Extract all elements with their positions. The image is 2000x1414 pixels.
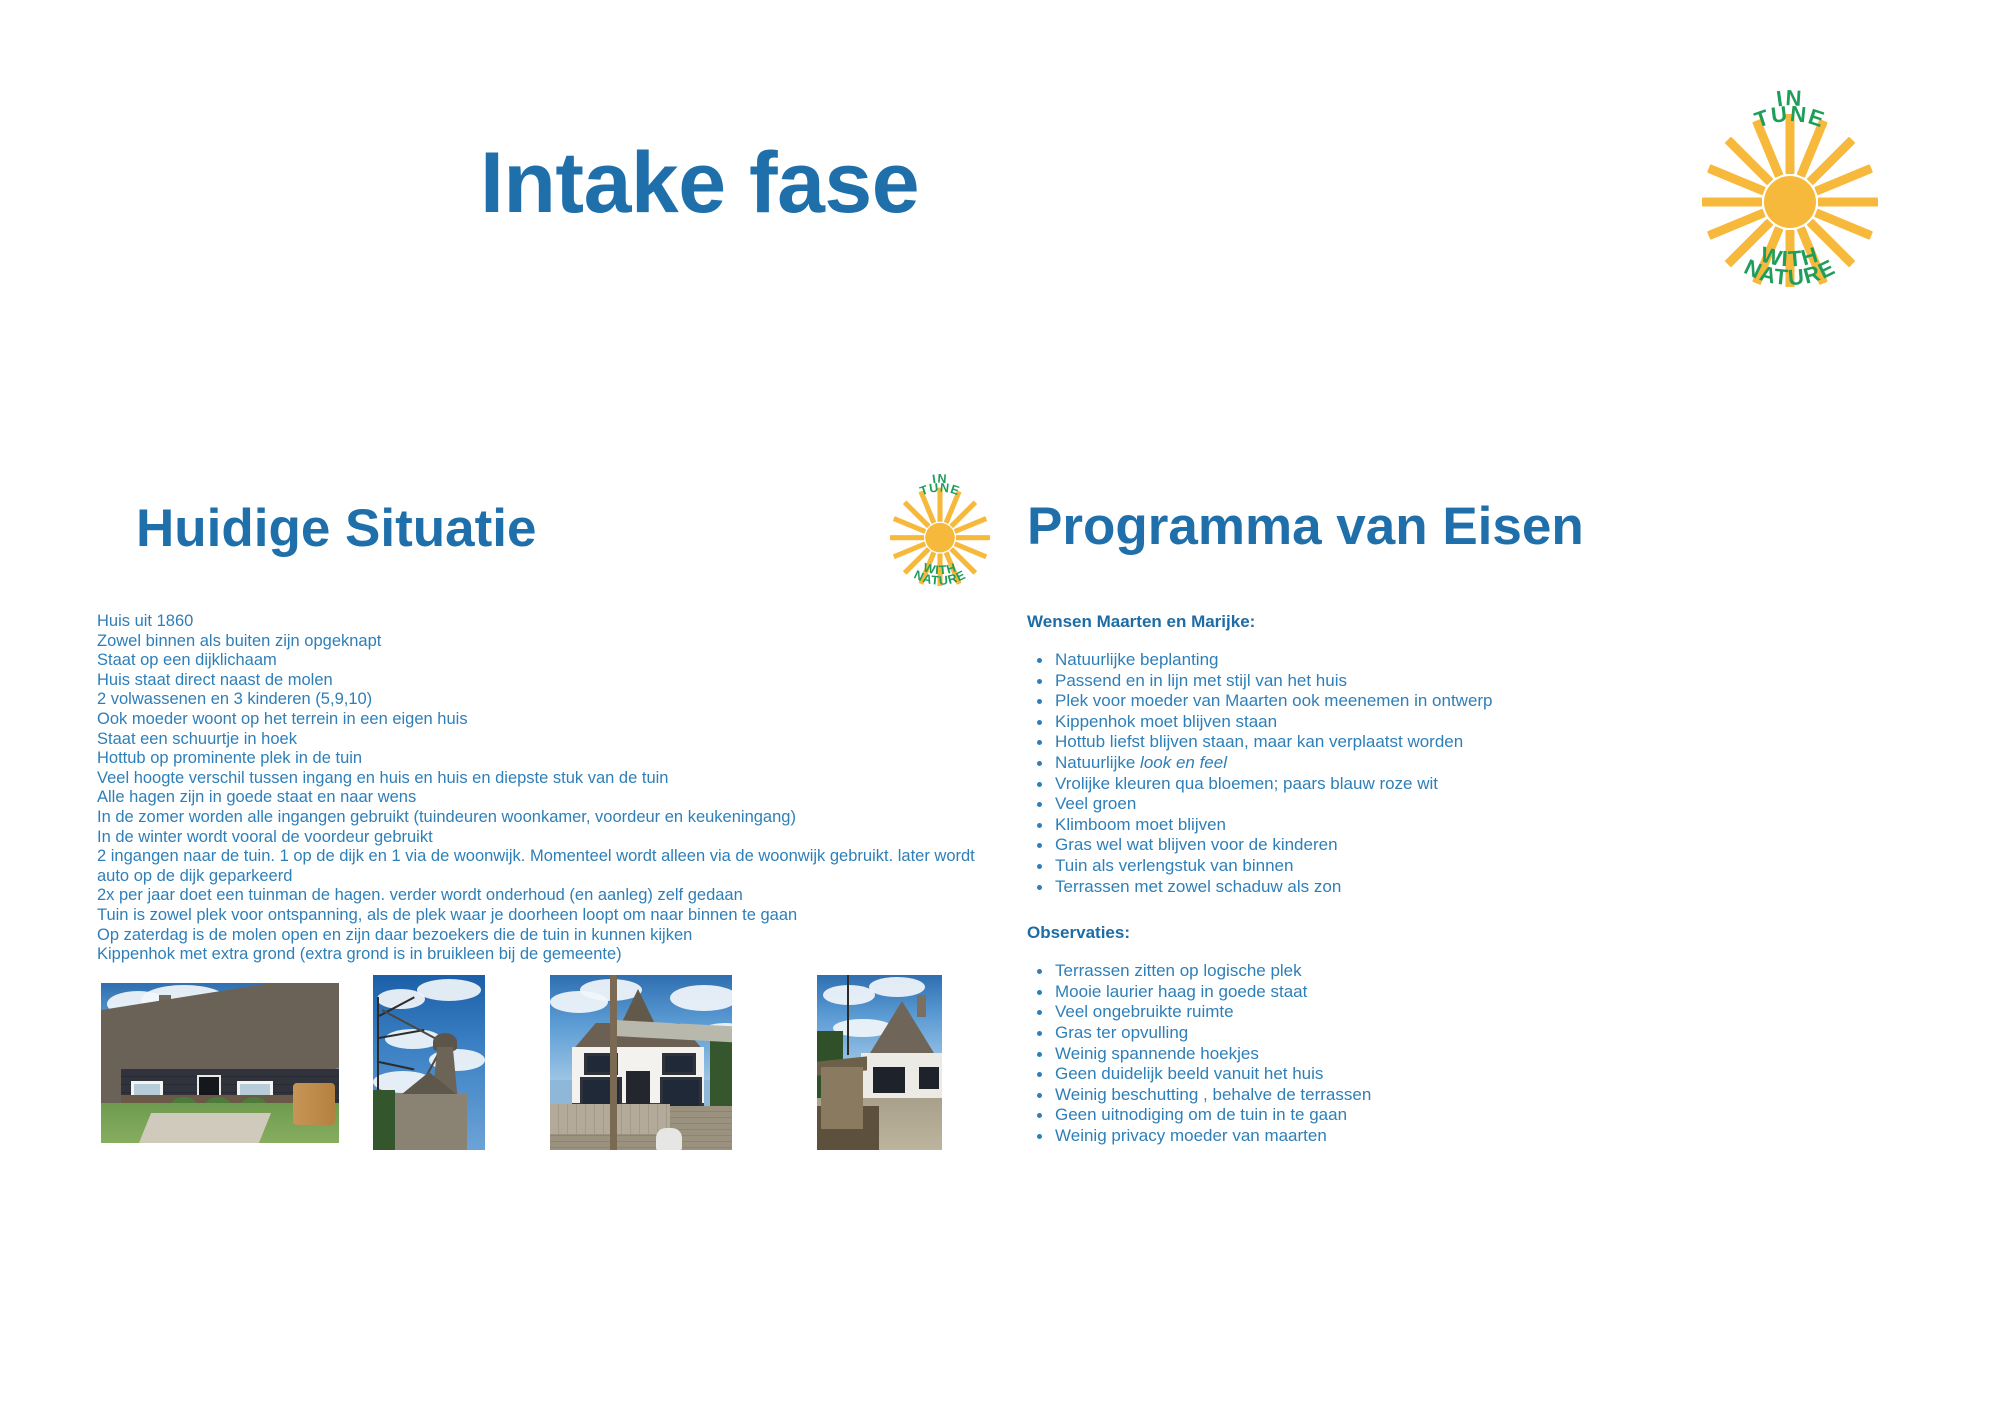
photo-house-front-terrace: [550, 975, 732, 1150]
photo-farmhouse-with-hottub: [101, 983, 339, 1143]
slide-canvas: Intake fase: [0, 0, 2000, 1414]
list-item-label: Vrolijke kleuren qua bloemen; paars blau…: [1055, 774, 1438, 793]
list-item: Mooie laurier haag in goede staat: [1027, 982, 1787, 1003]
list-item: Terrassen zitten op logische plek: [1027, 961, 1787, 982]
list-item-label: Weinig beschutting , behalve de terrasse…: [1055, 1085, 1371, 1104]
list-item: Passend en in lijn met stijl van het hui…: [1027, 671, 1787, 692]
huidige-situatie-line: Staat op een dijklichaam: [97, 651, 977, 671]
list-item-label: Mooie laurier haag in goede staat: [1055, 982, 1307, 1001]
in-tune-with-nature-logo-small: IN TUNE WITH NATURE: [886, 458, 994, 586]
window: [873, 1067, 905, 1093]
huidige-situatie-line: Zowel binnen als buiten zijn opgeknapt: [97, 632, 977, 652]
photo-windmill: [373, 975, 485, 1150]
list-item-label: Plek voor moeder van Maarten ook meeneme…: [1055, 691, 1493, 710]
pergola-post: [610, 975, 617, 1150]
programma-van-eisen-content: Wensen Maarten en Marijke: Natuurlijke b…: [1027, 612, 1787, 1146]
list-item: Gras ter opvulling: [1027, 1023, 1787, 1044]
section-spacer: [1027, 897, 1787, 923]
hot-tub: [293, 1083, 335, 1125]
list-item: Klimboom moet blijven: [1027, 815, 1787, 836]
huidige-situatie-line: Veel hoogte verschil tussen ingang en hu…: [97, 769, 977, 789]
window: [919, 1067, 939, 1089]
list-item: Weinig spannende hoekjes: [1027, 1044, 1787, 1065]
chimney: [917, 995, 926, 1017]
bare-tree-trunk: [847, 975, 849, 1055]
garden-path: [139, 1113, 271, 1143]
list-item-label: Terrassen zitten op logische plek: [1055, 961, 1302, 980]
huidige-situatie-line: Alle hagen zijn in goede staat en naar w…: [97, 788, 977, 808]
huidige-situatie-line: Tuin is zowel plek voor ontspanning, als…: [97, 906, 977, 926]
list-item-label: Geen uitnodiging om de tuin in te gaan: [1055, 1105, 1347, 1124]
list-item: Veel groen: [1027, 794, 1787, 815]
huidige-situatie-line: 2 volwassenen en 3 kinderen (5,9,10): [97, 690, 977, 710]
list-item: Plek voor moeder van Maarten ook meeneme…: [1027, 691, 1787, 712]
huidige-situatie-line: Hottub op prominente plek in de tuin: [97, 749, 977, 769]
list-item: Geen uitnodiging om de tuin in te gaan: [1027, 1105, 1787, 1126]
list-item-label: Natuurlijke: [1055, 753, 1140, 772]
section-heading-programma-van-eisen: Programma van Eisen: [1027, 496, 1584, 557]
huidige-situatie-line: Op zaterdag is de molen open en zijn daa…: [97, 926, 977, 946]
list-item-label: Geen duidelijk beeld vanuit het huis: [1055, 1064, 1323, 1083]
huidige-situatie-line: Kippenhok met extra grond (extra grond i…: [97, 945, 977, 965]
cloud: [670, 985, 732, 1011]
list-item-label: Hottub liefst blijven staan, maar kan ve…: [1055, 732, 1463, 751]
list-item-label: Gras ter opvulling: [1055, 1023, 1188, 1042]
list-item-label: Veel ongebruikte ruimte: [1055, 1002, 1234, 1021]
huidige-situatie-line: Ook moeder woont op het terrein in een e…: [97, 710, 977, 730]
list-item: Weinig privacy moeder van maarten: [1027, 1126, 1787, 1147]
list-item-label: Gras wel wat blijven voor de kinderen: [1055, 835, 1338, 854]
huidige-situatie-text-block: Huis uit 1860Zowel binnen als buiten zij…: [97, 612, 977, 965]
list-item-label: Veel groen: [1055, 794, 1136, 813]
list-item: Gras wel wat blijven voor de kinderen: [1027, 835, 1787, 856]
cloud: [869, 977, 925, 997]
cloud: [417, 979, 481, 1001]
huidige-situatie-line: Huis uit 1860: [97, 612, 977, 632]
list-item: Veel ongebruikte ruimte: [1027, 1002, 1787, 1023]
wensen-list: Natuurlijke beplantingPassend en in lijn…: [1027, 650, 1787, 897]
list-item: Weinig beschutting , behalve de terrasse…: [1027, 1085, 1787, 1106]
list-item: Natuurlijke look en feel: [1027, 753, 1787, 774]
list-item-label: Kippenhok moet blijven staan: [1055, 712, 1277, 731]
list-item-label: Natuurlijke beplanting: [1055, 650, 1219, 669]
in-tune-with-nature-logo: IN TUNE WITH NATURE: [1695, 62, 1885, 287]
garden-shed: [821, 1067, 863, 1129]
list-item: Hottub liefst blijven staan, maar kan ve…: [1027, 732, 1787, 753]
window: [662, 1053, 696, 1075]
photo-rear-garden-shed: [817, 975, 942, 1150]
page-title: Intake fase: [480, 140, 919, 226]
list-item: Kippenhok moet blijven staan: [1027, 712, 1787, 733]
huidige-situatie-line: 2x per jaar doet een tuinman de hagen. v…: [97, 886, 977, 906]
list-item-label: Weinig spannende hoekjes: [1055, 1044, 1259, 1063]
list-item-label: Klimboom moet blijven: [1055, 815, 1226, 834]
huidige-situatie-line: 2 ingangen naar de tuin. 1 op de dijk en…: [97, 847, 977, 886]
garden-chair: [656, 1128, 682, 1150]
list-item-label: Terrassen met zowel schaduw als zon: [1055, 877, 1341, 896]
list-item-emphasis: look en feel: [1140, 753, 1227, 772]
list-item-label: Weinig privacy moeder van maarten: [1055, 1126, 1327, 1145]
house-body: [391, 1094, 467, 1150]
observaties-list: Terrassen zitten op logische plekMooie l…: [1027, 961, 1787, 1146]
hedge: [710, 1039, 732, 1111]
wensen-heading: Wensen Maarten en Marijke:: [1027, 612, 1787, 632]
hedge: [373, 1090, 395, 1150]
huidige-situatie-line: In de winter wordt vooral de voordeur ge…: [97, 828, 977, 848]
list-item: Natuurlijke beplanting: [1027, 650, 1787, 671]
huidige-situatie-line: Staat een schuurtje in hoek: [97, 730, 977, 750]
list-item-label: Passend en in lijn met stijl van het hui…: [1055, 671, 1347, 690]
huidige-situatie-line: In de zomer worden alle ingangen gebruik…: [97, 808, 977, 828]
list-item-label: Tuin als verlengstuk van binnen: [1055, 856, 1293, 875]
observaties-heading: Observaties:: [1027, 923, 1787, 943]
huidige-situatie-line: Huis staat direct naast de molen: [97, 671, 977, 691]
list-item: Vrolijke kleuren qua bloemen; paars blau…: [1027, 774, 1787, 795]
list-item: Terrassen met zowel schaduw als zon: [1027, 877, 1787, 898]
list-item: Tuin als verlengstuk van binnen: [1027, 856, 1787, 877]
section-heading-huidige-situatie: Huidige Situatie: [136, 498, 536, 559]
list-item: Geen duidelijk beeld vanuit het huis: [1027, 1064, 1787, 1085]
cloud: [823, 985, 875, 1005]
